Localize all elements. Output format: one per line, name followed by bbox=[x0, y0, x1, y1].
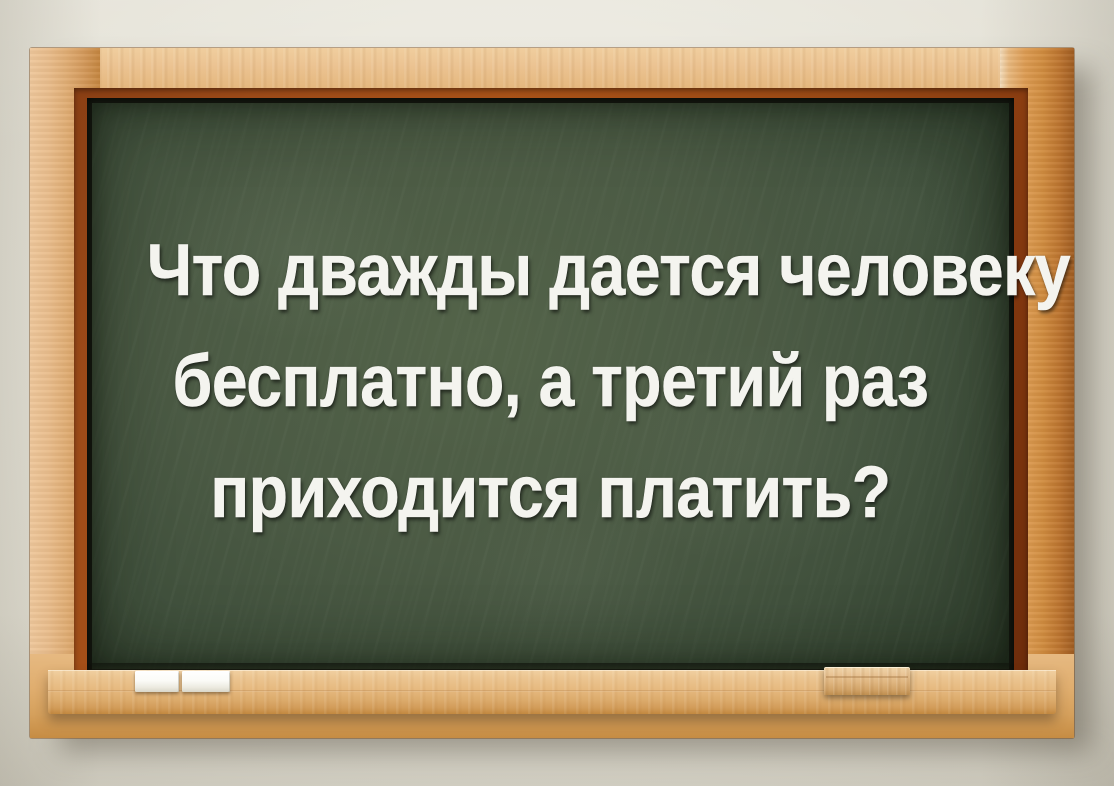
chalkboard-frame: Что дважды дается человеку бесплатно, а … bbox=[30, 48, 1074, 738]
chalk-stick-2[interactable] bbox=[182, 671, 230, 692]
chalkboard-scene: Что дважды дается человеку бесплатно, а … bbox=[0, 0, 1114, 786]
board-eraser[interactable] bbox=[824, 667, 910, 695]
chalk-stick-1[interactable] bbox=[135, 671, 179, 692]
riddle-line-3: приходится платить? bbox=[147, 437, 954, 548]
chalkboard-surface: Что дважды дается человеку бесплатно, а … bbox=[92, 103, 1009, 669]
chalkboard-riddle-text: Что дважды дается человеку бесплатно, а … bbox=[92, 215, 1009, 548]
riddle-line-1: Что дважды дается человеку bbox=[147, 215, 954, 326]
riddle-line-2: бесплатно, а третий раз bbox=[147, 326, 954, 437]
